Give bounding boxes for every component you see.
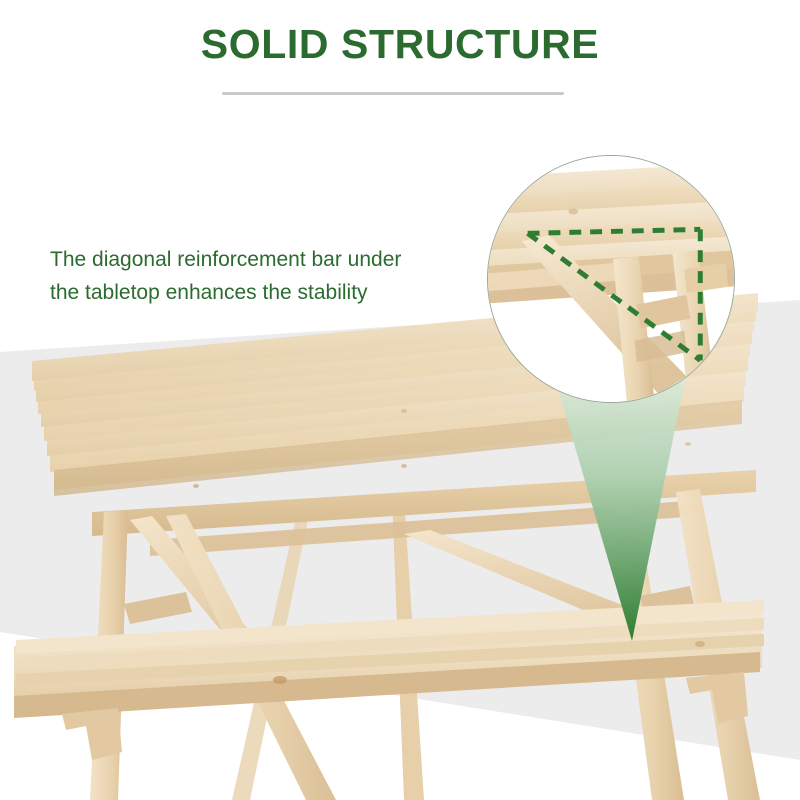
- page-title: SOLID STRUCTURE: [0, 22, 800, 67]
- caption-line-1: The diagonal reinforcement bar under: [50, 243, 450, 276]
- bench-support-right: [686, 672, 748, 724]
- title-divider: [222, 92, 564, 95]
- feature-caption: The diagonal reinforcement bar under the…: [50, 243, 450, 309]
- product-feature-image: SOLID STRUCTURE The diagonal reinforceme…: [0, 0, 800, 800]
- bench-support-left: [62, 708, 122, 760]
- detail-magnifier-content: [488, 156, 734, 402]
- caption-line-2: the tabletop enhances the stability: [50, 276, 450, 309]
- detail-magnifier: [487, 155, 735, 403]
- picnic-table-photo: [0, 0, 800, 800]
